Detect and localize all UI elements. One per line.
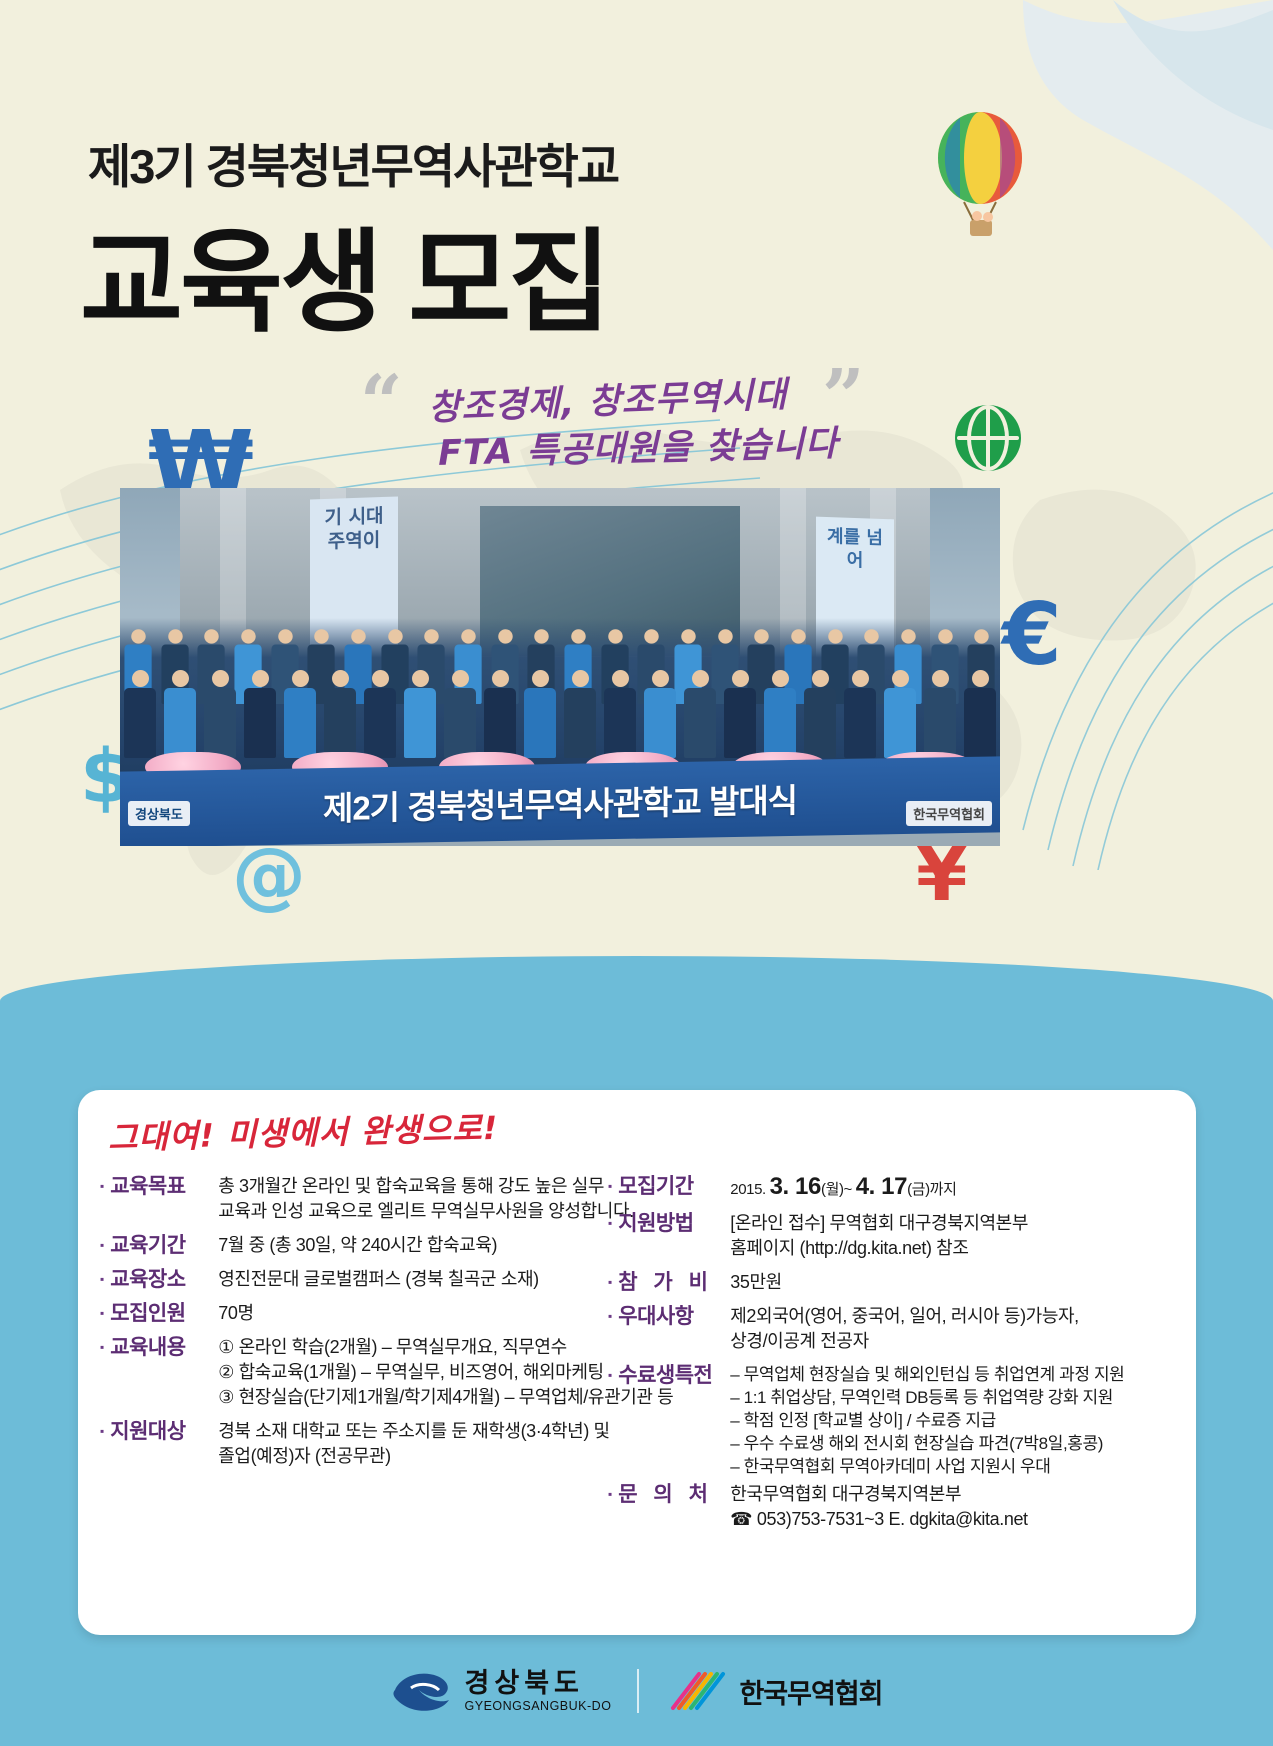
euro-currency-icon: € <box>1002 592 1062 678</box>
photo-logo-gyeongsangbuk: 경상북도 <box>128 801 190 826</box>
info-row-label: 지원대상 <box>110 1419 218 1469</box>
info-row-value: 한국무역협회 대구경북지역본부☎ 053)753-7531~3 E. dgkit… <box>730 1482 1180 1532</box>
info-value-line: 교육과 인성 교육으로 엘리트 무역실무사원을 양성합니다. <box>218 1199 633 1224</box>
bullet-icon: ▪ <box>100 1335 104 1410</box>
info-value-line: 경북 소재 대학교 또는 주소지를 둔 재학생(3·4학년) 및 <box>218 1419 620 1444</box>
info-row: ▪교육장소영진전문대 글로벌캠퍼스 (경북 칠곡군 소재) <box>100 1267 620 1292</box>
info-row: ▪모집인원70명 <box>100 1301 620 1326</box>
info-row-value: ① 온라인 학습(2개월) – 무역실무개요, 직무연수② 합숙교육(1개월) … <box>218 1335 673 1410</box>
info-row-value: [온라인 접수] 무역협회 대구경북지역본부홈페이지 (http://dg.ki… <box>730 1211 1180 1261</box>
info-value-line: 상경/이공계 전공자 <box>730 1329 1180 1354</box>
info-row: ▪모집기간2015. 3. 16(월)~ 4. 17(금)까지 <box>608 1174 1180 1202</box>
info-row: ▪지원대상경북 소재 대학교 또는 주소지를 둔 재학생(3·4학년) 및졸업(… <box>100 1419 620 1469</box>
hot-air-balloon-icon <box>920 110 1040 250</box>
info-value-line: 영진전문대 글로벌캠퍼스 (경북 칠곡군 소재) <box>218 1267 620 1292</box>
info-row: ▪우대사항제2외국어(영어, 중국어, 일어, 러시아 등)가능자,상경/이공계… <box>608 1304 1180 1354</box>
bullet-icon: ▪ <box>608 1211 612 1261</box>
info-row-value: 70명 <box>218 1301 620 1326</box>
info-value-line: 제2외국어(영어, 중국어, 일어, 러시아 등)가능자, <box>730 1304 1180 1329</box>
photo-banner-ribbon: 제2기 경북청년무역사관학교 발대식 <box>120 756 1000 846</box>
info-row-label: 교육장소 <box>110 1267 218 1292</box>
gyeongsangbuk-label-ko: 경상북도 <box>465 1670 612 1697</box>
info-value-line: [온라인 접수] 무역협회 대구경북지역본부 <box>730 1211 1180 1236</box>
gyeongsangbuk-mark-icon <box>391 1668 453 1714</box>
info-value-line: ① 온라인 학습(2개월) – 무역실무개요, 직무연수 <box>218 1335 673 1360</box>
info-row-value: – 무역업체 현장실습 및 해외인턴십 등 취업연계 과정 지원– 1:1 취업… <box>730 1363 1180 1478</box>
info-row-label: 참 가 비 <box>618 1270 730 1295</box>
info-row-label: 지원방법 <box>618 1211 730 1261</box>
yen-currency-icon: ¥ <box>916 838 968 912</box>
info-value-line: 한국무역협회 대구경북지역본부 <box>730 1482 1180 1507</box>
bullet-icon: ▪ <box>100 1267 104 1292</box>
bullet-icon: ▪ <box>608 1270 612 1295</box>
info-row-value: 제2외국어(영어, 중국어, 일어, 러시아 등)가능자,상경/이공계 전공자 <box>730 1304 1180 1354</box>
info-row-label: 교육기간 <box>110 1233 218 1258</box>
info-value-part: 3. 16 <box>770 1173 821 1200</box>
background-blob <box>853 0 1273 250</box>
info-row-value: 7월 중 (총 30일, 약 240시간 합숙교육) <box>218 1233 620 1258</box>
bullet-icon: ▪ <box>608 1482 612 1532</box>
info-row-label: 수료생특전 <box>618 1363 730 1478</box>
card-heading: 그대여! 미생에서 완생으로! <box>107 1103 498 1159</box>
info-value-line: – 학점 인정 [학교별 상이] / 수료증 지급 <box>730 1409 1180 1432</box>
info-row-value: 35만원 <box>730 1270 1180 1295</box>
info-value-line: 총 3개월간 온라인 및 합숙교육을 통해 강도 높은 실무 <box>218 1174 633 1199</box>
info-row-value: 경북 소재 대학교 또는 주소지를 둔 재학생(3·4학년) 및졸업(예정)자 … <box>218 1419 620 1469</box>
info-value-line: – 한국무역협회 무역아카데미 사업 지원시 우대 <box>730 1455 1180 1478</box>
info-row: ▪지원방법[온라인 접수] 무역협회 대구경북지역본부홈페이지 (http://… <box>608 1211 1180 1261</box>
bullet-icon: ▪ <box>608 1363 612 1478</box>
gyeongsangbuk-text: 경상북도 GYEONGSANGBUK-DO <box>465 1670 612 1713</box>
info-row-label: 모집인원 <box>110 1301 218 1326</box>
info-card: 그대여! 미생에서 완생으로! ▪교육목표총 3개월간 온라인 및 합숙교육을 … <box>78 1090 1196 1635</box>
footer-divider <box>637 1669 639 1713</box>
page-title: 교육생 모집 <box>80 192 608 354</box>
poster-root: ₩ $ @ € ¥ 제3기 경북청년무역사관학교 교육생 모집 “ ” 창조경제… <box>0 0 1273 1746</box>
photo-banner-text: 제2기 경북청년무역사관학교 발대식 <box>323 774 797 830</box>
tagline: “ ” 창조경제, 창조무역시대 FTA 특공대원을 찾습니다 <box>360 360 880 480</box>
info-value-line: 35만원 <box>730 1270 1180 1295</box>
info-value-line: 홈페이지 (http://dg.kita.net) 참조 <box>730 1236 1180 1261</box>
photo-logo-kita: 한국무역협회 <box>906 801 992 826</box>
info-row-label: 교육내용 <box>110 1335 218 1410</box>
kita-logo: 한국무역협회 <box>665 1668 882 1714</box>
kita-label: 한국무역협회 <box>739 1672 882 1711</box>
info-row: ▪교육목표총 3개월간 온라인 및 합숙교육을 통해 강도 높은 실무교육과 인… <box>100 1174 620 1224</box>
event-photo: 기 시대 주역이 계를 넘어 제2기 경북청년무역사관학교 발대식 경상북도 한… <box>120 488 1000 846</box>
info-value-line: – 우수 수료생 해외 전시회 현장실습 파견(7박8일,홍콩) <box>730 1432 1180 1455</box>
bullet-icon: ▪ <box>100 1233 104 1258</box>
info-value-part: 4. 17 <box>856 1173 907 1200</box>
quote-open-icon: “ <box>360 366 403 440</box>
bullet-icon: ▪ <box>100 1301 104 1326</box>
info-row-value: 2015. 3. 16(월)~ 4. 17(금)까지 <box>730 1174 1180 1202</box>
info-row-label: 문 의 처 <box>618 1482 730 1532</box>
info-value-line: ② 합숙교육(1개월) – 무역실무, 비즈영어, 해외마케팅 <box>218 1360 673 1385</box>
info-value-line: 7월 중 (총 30일, 약 240시간 합숙교육) <box>218 1233 620 1258</box>
info-value-part: (금)까지 <box>907 1181 956 1198</box>
gyeongsangbuk-logo: 경상북도 GYEONGSANGBUK-DO <box>391 1668 612 1714</box>
bullet-icon: ▪ <box>100 1174 104 1224</box>
info-row: ▪교육기간7월 중 (총 30일, 약 240시간 합숙교육) <box>100 1233 620 1258</box>
info-value-line: 70명 <box>218 1301 620 1326</box>
info-row: ▪수료생특전– 무역업체 현장실습 및 해외인턴십 등 취업연계 과정 지원– … <box>608 1363 1180 1478</box>
at-symbol-icon: @ <box>232 838 306 912</box>
info-value-part: 2015. <box>730 1181 769 1198</box>
info-row-label: 교육목표 <box>110 1174 218 1224</box>
info-value-part: (월)~ <box>821 1181 856 1198</box>
info-row-value: 영진전문대 글로벌캠퍼스 (경북 칠곡군 소재) <box>218 1267 620 1292</box>
globe-ring-icon <box>967 405 1009 471</box>
info-value-line: ③ 현장실습(단기제1개월/학기제4개월) – 무역업체/유관기관 등 <box>218 1385 673 1410</box>
info-column-right: ▪모집기간2015. 3. 16(월)~ 4. 17(금)까지▪지원방법[온라인… <box>608 1174 1180 1541</box>
edition-title: 제3기 경북청년무역사관학교 <box>88 128 618 197</box>
info-row-value: 총 3개월간 온라인 및 합숙교육을 통해 강도 높은 실무교육과 인성 교육으… <box>218 1174 633 1224</box>
info-row: ▪문 의 처한국무역협회 대구경북지역본부☎ 053)753-7531~3 E.… <box>608 1482 1180 1532</box>
info-row-label: 모집기간 <box>618 1174 730 1202</box>
kita-mark-icon <box>665 1668 727 1714</box>
info-row-label: 우대사항 <box>618 1304 730 1354</box>
info-value-line: 졸업(예정)자 (전공무관) <box>218 1444 620 1469</box>
bullet-icon: ▪ <box>608 1174 612 1202</box>
info-row: ▪교육내용① 온라인 학습(2개월) – 무역실무개요, 직무연수② 합숙교육(… <box>100 1335 620 1410</box>
info-row: ▪참 가 비35만원 <box>608 1270 1180 1295</box>
gyeongsangbuk-label-en: GYEONGSANGBUK-DO <box>465 1700 612 1713</box>
bullet-icon: ▪ <box>100 1419 104 1469</box>
tagline-line-2: FTA 특공대원을 찾습니다 <box>437 415 838 476</box>
footer-logos: 경상북도 GYEONGSANGBUK-DO 한국무역협회 <box>0 1668 1273 1714</box>
info-value-line: ☎ 053)753-7531~3 E. dgkita@kita.net <box>730 1507 1180 1532</box>
info-value-line: – 무역업체 현장실습 및 해외인턴십 등 취업연계 과정 지원 <box>730 1363 1180 1386</box>
bullet-icon: ▪ <box>608 1304 612 1354</box>
info-column-left: ▪교육목표총 3개월간 온라인 및 합숙교육을 통해 강도 높은 실무교육과 인… <box>100 1174 620 1478</box>
info-value-line: – 1:1 취업상담, 무역인력 DB등록 등 취업역량 강화 지원 <box>730 1386 1180 1409</box>
